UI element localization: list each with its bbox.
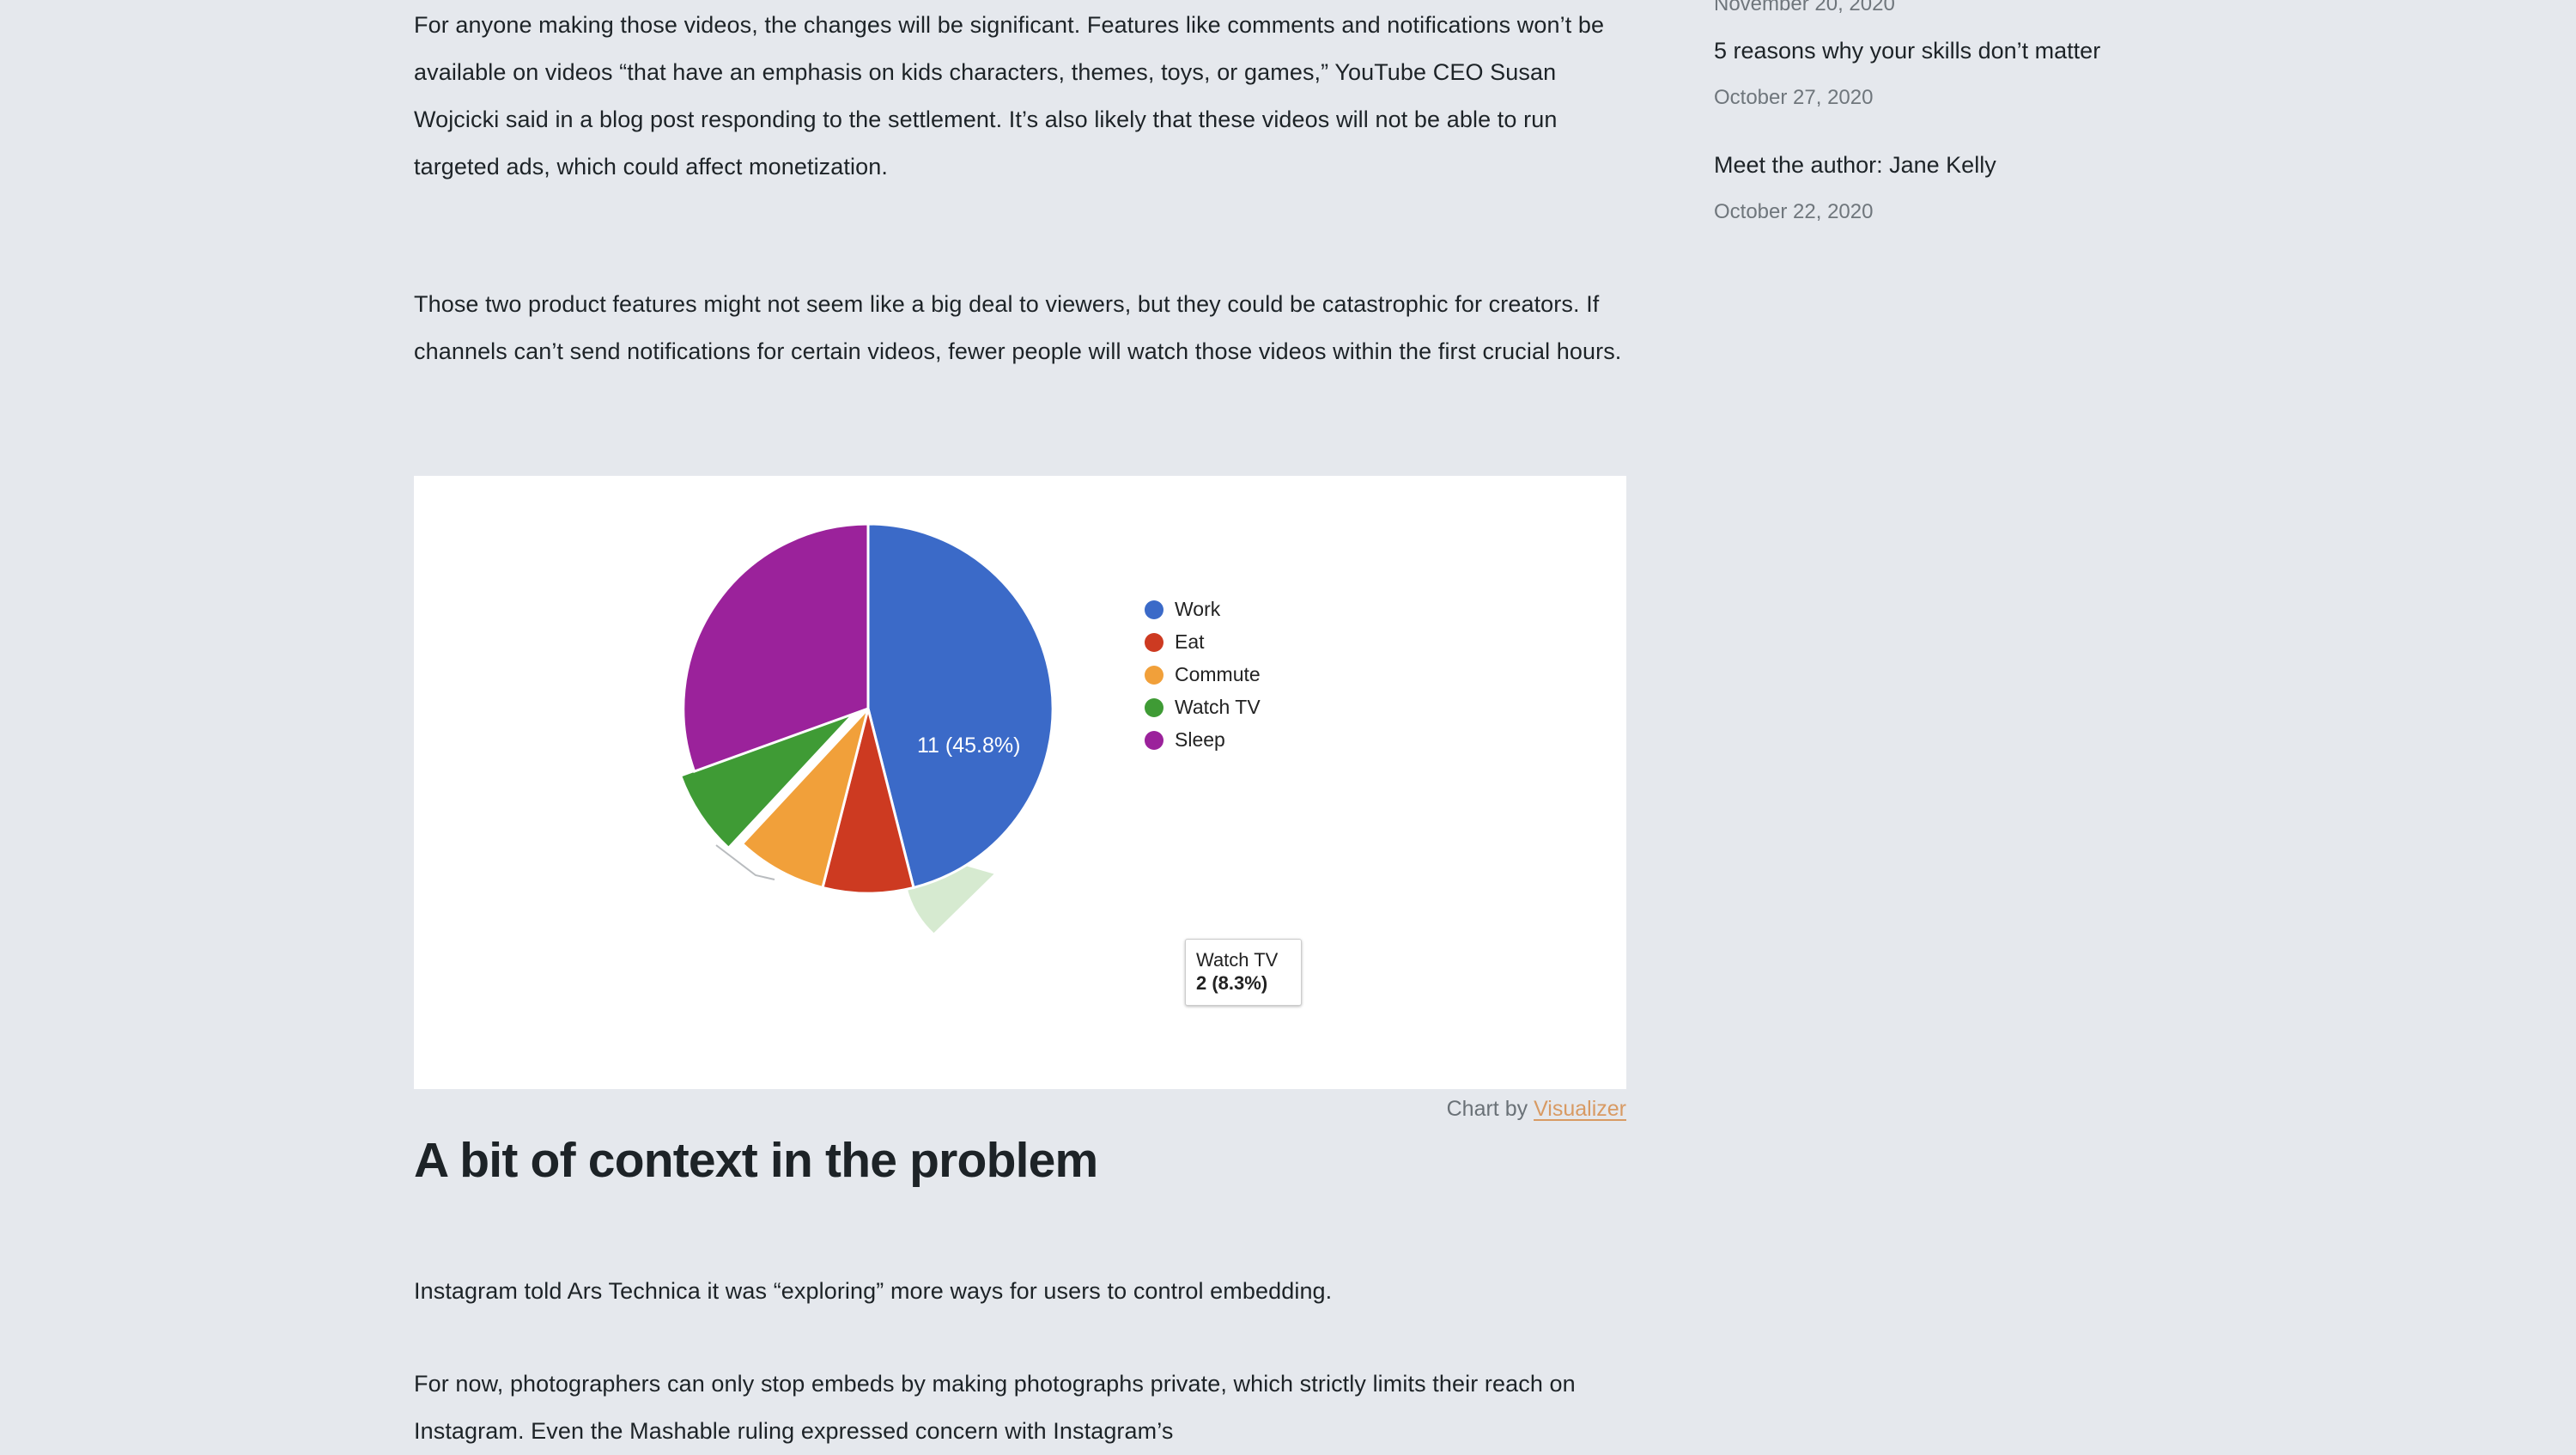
chart-card[interactable]: 11 (45.8%) 7 (29.2%) Work Eat Commute: [414, 476, 1626, 1089]
chart-legend[interactable]: Work Eat Commute Watch TV Sleep: [1145, 597, 1261, 752]
sidebar-post-item[interactable]: Meet the author: Jane Kelly October 22, …: [1714, 142, 2160, 235]
pie-slice-sleep[interactable]: [683, 524, 868, 771]
tooltip-title: Watch TV: [1196, 948, 1291, 971]
pie-chart-svg[interactable]: [414, 476, 1626, 1089]
legend-label: Watch TV: [1175, 697, 1261, 717]
article-paragraph: Those two product features might not see…: [414, 281, 1626, 375]
page-root: For anyone making those videos, the chan…: [0, 0, 2576, 1431]
legend-label: Work: [1175, 600, 1220, 619]
legend-item-work[interactable]: Work: [1145, 597, 1261, 622]
legend-swatch-icon: [1145, 731, 1163, 750]
sidebar-post-date: October 22, 2020: [1714, 189, 2160, 235]
legend-label: Sleep: [1175, 730, 1225, 750]
pie-slice-label-sleep: 7 (29.2%): [548, 697, 641, 722]
section-heading: A bit of context in the problem: [414, 1132, 1097, 1189]
legend-item-watch-tv[interactable]: Watch TV: [1145, 695, 1261, 720]
legend-label: Commute: [1175, 665, 1261, 685]
sidebar-post-date: October 27, 2020: [1714, 75, 2160, 121]
chart-credit-prefix: Chart by: [1447, 1097, 1534, 1121]
chart-credit: Chart by Visualizer: [414, 1094, 1626, 1123]
pie-slices[interactable]: [681, 524, 1054, 893]
sidebar-recent-posts: November 20, 2020 5 reasons why your ski…: [1714, 0, 2160, 256]
legend-label: Eat: [1175, 632, 1205, 652]
pie-slice-label-work: 11 (45.8%): [917, 734, 1020, 758]
legend-swatch-icon: [1145, 600, 1163, 619]
pie-chart[interactable]: [414, 476, 1626, 1089]
tooltip-value: 2 (8.3%): [1196, 971, 1291, 995]
legend-item-eat[interactable]: Eat: [1145, 630, 1261, 654]
chart-tooltip: Watch TV 2 (8.3%): [1185, 939, 1302, 1006]
sidebar-post-title[interactable]: 5 reasons why your skills don’t matter: [1714, 27, 2109, 75]
article-paragraph: For anyone making those videos, the chan…: [414, 2, 1616, 191]
legend-swatch-icon: [1145, 698, 1163, 717]
legend-item-sleep[interactable]: Sleep: [1145, 727, 1261, 752]
article-paragraph: For now, photographers can only stop emb…: [414, 1361, 1616, 1455]
sidebar-post-item[interactable]: 5 reasons why your skills don’t matter O…: [1714, 27, 2160, 121]
legend-item-commute[interactable]: Commute: [1145, 662, 1261, 687]
sidebar-post-title[interactable]: Meet the author: Jane Kelly: [1714, 142, 2109, 189]
sidebar-post-date-clipped: November 20, 2020: [1714, 0, 2160, 27]
legend-swatch-icon: [1145, 633, 1163, 652]
legend-swatch-icon: [1145, 666, 1163, 685]
visualizer-link[interactable]: Visualizer: [1534, 1097, 1626, 1121]
article-paragraph: Instagram told Ars Technica it was “expl…: [414, 1268, 1616, 1315]
